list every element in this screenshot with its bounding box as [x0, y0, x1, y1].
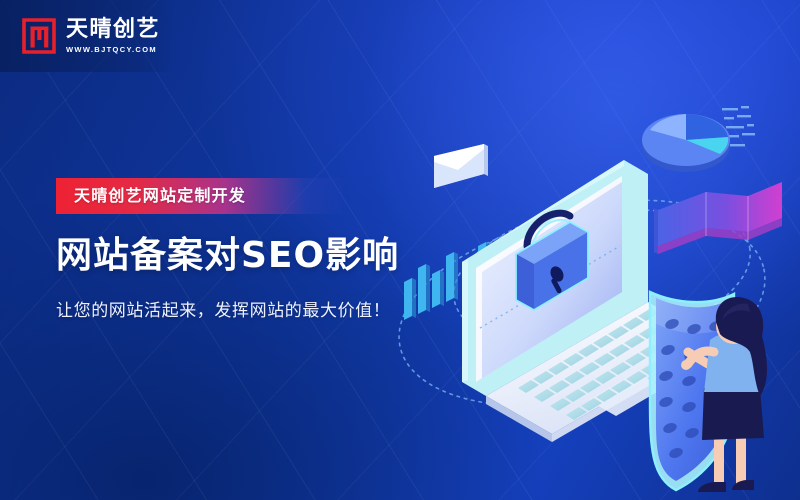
brand-website-url: WWW.BJTQCY.COM — [66, 45, 160, 54]
hero-badge: 天晴创艺网站定制开发 — [56, 178, 346, 214]
site-logo-header[interactable]: 天晴创艺 WWW.BJTQCY.COM — [0, 0, 176, 72]
hero-banner: 天晴创艺 WWW.BJTQCY.COM 天晴创艺网站定制开发 网站备案对SEO影… — [0, 0, 800, 500]
envelope-icon — [434, 144, 488, 188]
logo-text-block: 天晴创艺 WWW.BJTQCY.COM — [66, 18, 160, 53]
open-book-icon — [654, 182, 782, 254]
pie-chart-icon — [642, 114, 730, 172]
hero-badge-label: 天晴创艺网站定制开发 — [56, 178, 346, 214]
brand-name-cn: 天晴创艺 — [66, 18, 160, 41]
tqcy-square-logo-icon — [22, 18, 56, 54]
isometric-security-illustration — [392, 96, 800, 500]
